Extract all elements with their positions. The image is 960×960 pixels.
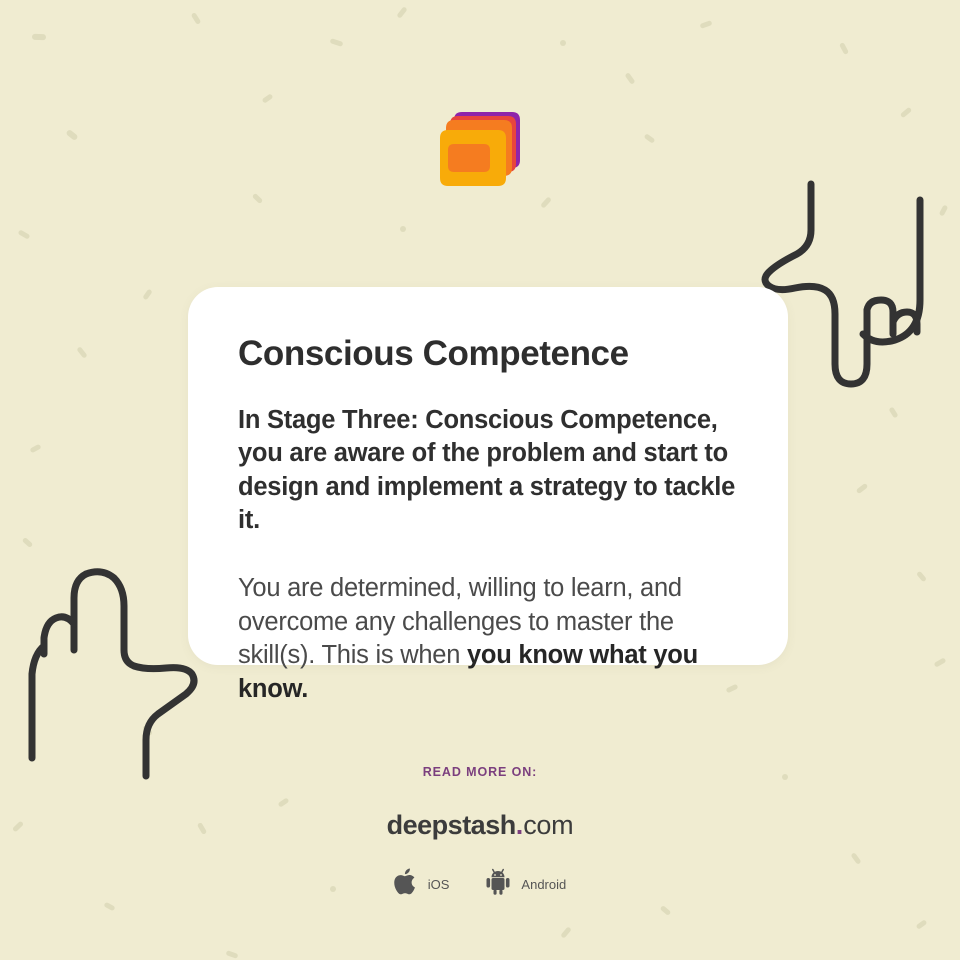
store-badge-android[interactable]: Android	[483, 867, 566, 902]
speckle-14	[29, 444, 41, 454]
speckle-2	[191, 12, 202, 25]
poster-canvas: Conscious Competence In Stage Three: Con…	[0, 0, 960, 960]
card-paragraph-primary: In Stage Three: Conscious Competence, yo…	[238, 404, 738, 539]
speckle-33	[660, 905, 672, 916]
apple-icon	[394, 867, 420, 902]
brand-name: deepstash	[387, 810, 516, 840]
store-badges: iOS	[0, 867, 960, 902]
speckle-5	[396, 6, 407, 19]
speckle-20	[888, 407, 898, 419]
speckle-32	[560, 926, 572, 938]
speckle-8	[700, 20, 713, 29]
speckle-30	[226, 950, 239, 959]
speckle-6	[560, 40, 566, 46]
logo-icon	[428, 104, 520, 196]
speckle-3	[262, 93, 274, 103]
speckle-4	[330, 38, 344, 47]
store-label-android: Android	[521, 878, 566, 891]
store-badge-ios[interactable]: iOS	[394, 867, 450, 902]
speckle-0	[32, 34, 46, 40]
speckle-37	[916, 919, 928, 930]
speckle-17	[540, 196, 552, 208]
speckle-18	[644, 133, 656, 144]
apple-glyph	[394, 867, 420, 897]
read-more-label: READ MORE ON:	[0, 766, 960, 779]
brand-tld: com	[523, 810, 573, 840]
speckle-11	[18, 229, 31, 239]
speckle-22	[916, 571, 927, 583]
android-icon	[483, 867, 513, 902]
speckle-23	[934, 657, 947, 667]
speckle-1	[65, 129, 78, 141]
speckle-12	[142, 289, 152, 301]
speckle-27	[103, 902, 115, 912]
speckle-10	[900, 107, 912, 119]
speckle-16	[400, 226, 406, 232]
speckle-13	[76, 346, 87, 359]
android-glyph	[483, 867, 513, 897]
footer: READ MORE ON: deepstash.com iOS	[0, 766, 960, 902]
speckle-9	[839, 42, 849, 55]
deepstash-logo	[428, 104, 520, 196]
page-title: Conscious Competence	[238, 335, 738, 374]
store-label-ios: iOS	[428, 878, 450, 891]
speckle-7	[625, 72, 636, 85]
brand-wordmark[interactable]: deepstash.com	[0, 812, 960, 839]
speckle-15	[252, 193, 263, 204]
card-paragraph-secondary: You are determined, willing to learn, an…	[238, 572, 738, 707]
insight-card: Conscious Competence In Stage Three: Con…	[188, 287, 788, 665]
speckle-21	[856, 483, 869, 494]
speckle-25	[22, 537, 34, 548]
